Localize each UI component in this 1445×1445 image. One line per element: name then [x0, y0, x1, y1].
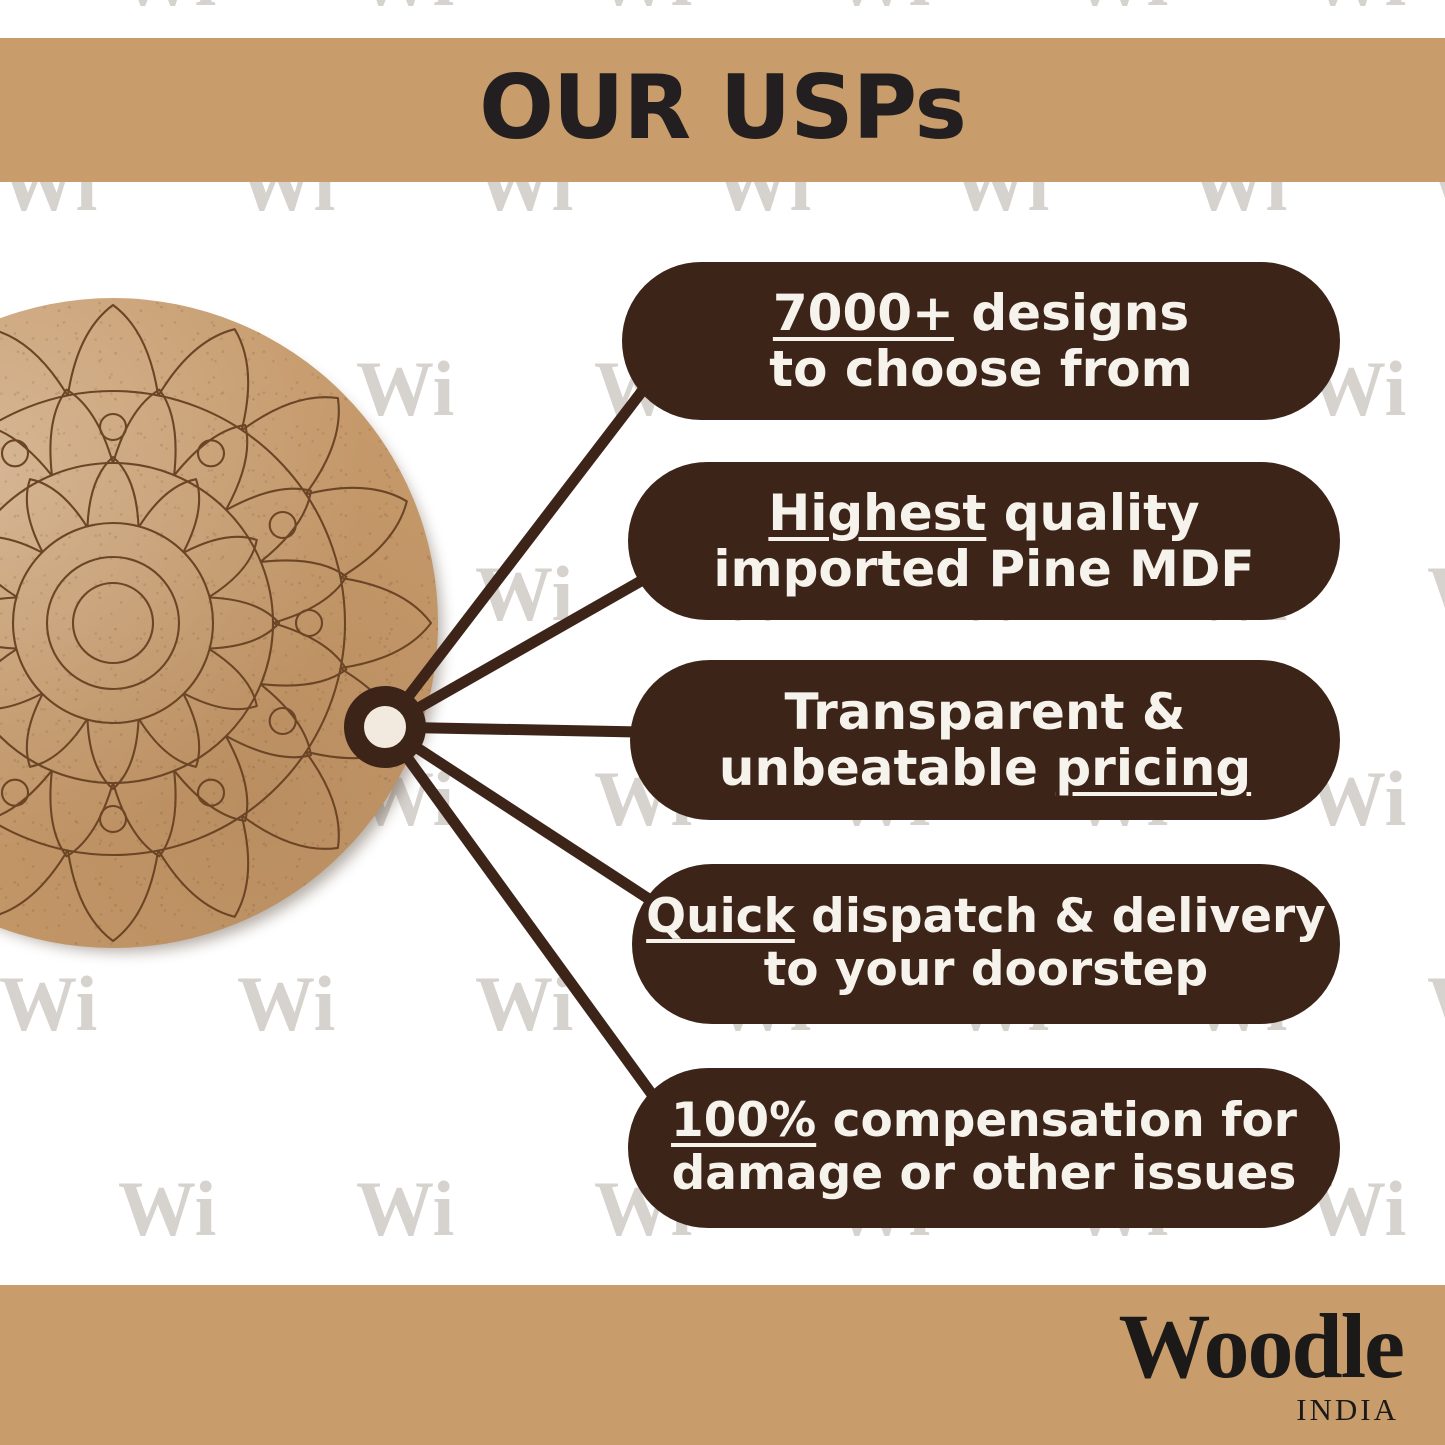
watermark-mark: Wi [118, 1170, 216, 1248]
mandala-dot [100, 414, 126, 440]
brand-logo: Woodle INDIA [1119, 1300, 1403, 1425]
watermark-mark: Wi [356, 0, 454, 18]
page-title: OUR USPs [0, 56, 1445, 159]
mandala-dot [100, 806, 126, 832]
mandala-ring [0, 391, 345, 855]
mandala-dot [2, 440, 28, 466]
usp-text-post: designs [954, 284, 1189, 342]
usp-line-1: Highest quality [768, 485, 1199, 541]
usp-text-pre: unbeatable [719, 739, 1056, 797]
usp-text-post: quality [986, 484, 1199, 542]
mandala-petal [0, 736, 52, 821]
usp-line-2: damage or other issues [672, 1148, 1297, 1201]
usp-text-pre: to your doorstep [764, 942, 1208, 997]
watermark-mark: Wi [594, 0, 692, 18]
usp-line-1: 7000+ designs [773, 285, 1189, 341]
usp-text-post: dispatch & delivery [795, 889, 1326, 944]
usp-line-2: imported Pine MDF [713, 541, 1254, 597]
watermark-mark: Wi [356, 1170, 454, 1248]
usp-text-underlined: Quick [646, 889, 795, 944]
usp-line-1: 100% compensation for [671, 1095, 1297, 1148]
watermark-mark: Wi [237, 965, 335, 1043]
watermark-mark: Wi [1308, 0, 1406, 18]
usp-pill-compensation[interactable]: 100% compensation for damage or other is… [628, 1068, 1340, 1228]
usp-text-underlined: Highest [768, 484, 986, 542]
mandala-dot [198, 780, 224, 806]
usp-line-1: Quick dispatch & delivery [646, 891, 1326, 944]
watermark-mark: Wi [1427, 965, 1445, 1043]
mandala-dot [270, 512, 296, 538]
usp-text-post: compensation for [816, 1093, 1297, 1148]
usp-line-1: Transparent & [785, 684, 1186, 740]
mandala-engraving [0, 298, 438, 948]
usp-text-underlined: 7000+ [773, 284, 954, 342]
watermark-mark: Wi [1070, 0, 1168, 18]
brand-logo-subtitle: INDIA [1119, 1394, 1399, 1425]
watermark-mark: Wi [118, 0, 216, 18]
usp-pill-pricing[interactable]: Transparent & unbeatable pricing [630, 660, 1340, 820]
mandala-petal [210, 598, 279, 649]
mandala-petal [242, 752, 339, 849]
mandala-dot [296, 610, 322, 636]
usp-text-pre: to choose from [769, 340, 1193, 398]
mandala-dot [270, 708, 296, 734]
mandala-ring [13, 523, 213, 723]
mandala-petal [0, 649, 42, 709]
mandala-petal [341, 578, 431, 668]
usp-text-pre: imported Pine MDF [713, 540, 1254, 598]
mdf-mandala-disc [0, 298, 438, 948]
mandala-dot [2, 780, 28, 806]
usp-line-2: to your doorstep [764, 944, 1208, 997]
usp-pill-quality[interactable]: Highest quality imported Pine MDF [628, 462, 1340, 620]
mandala-petal [242, 397, 339, 494]
usp-line-2: unbeatable pricing [719, 740, 1251, 796]
usp-pill-dispatch[interactable]: Quick dispatch & delivery to your doorst… [632, 864, 1340, 1024]
mandala-petal [68, 851, 158, 941]
infographic-canvas: WiWiWiWiWiWiWiWiWiWiWiWiWiWiWiWiWiWiWiWi… [0, 0, 1445, 1445]
usp-pill-designs[interactable]: 7000+ designs to choose from [622, 262, 1340, 420]
usp-line-2: to choose from [769, 341, 1193, 397]
mandala-dot [198, 440, 224, 466]
usp-text-underlined: pricing [1055, 739, 1251, 797]
usp-text-pre: damage or other issues [672, 1146, 1297, 1201]
watermark-mark: Wi [475, 965, 573, 1043]
watermark-mark: Wi [0, 965, 97, 1043]
mandala-petal [0, 537, 42, 597]
watermark-mark: Wi [832, 0, 930, 18]
brand-logo-wordmark: Woodle [1119, 1300, 1403, 1392]
watermark-mark: Wi [475, 555, 573, 633]
watermark-mark: Wi [1427, 555, 1445, 633]
usp-text-underlined: 100% [671, 1093, 816, 1148]
mandala-petal [88, 457, 139, 526]
usp-text-pre: Transparent & [785, 683, 1186, 741]
mandala-petal [0, 425, 52, 510]
mandala-petal [88, 720, 139, 789]
mandala-petal [68, 305, 158, 395]
